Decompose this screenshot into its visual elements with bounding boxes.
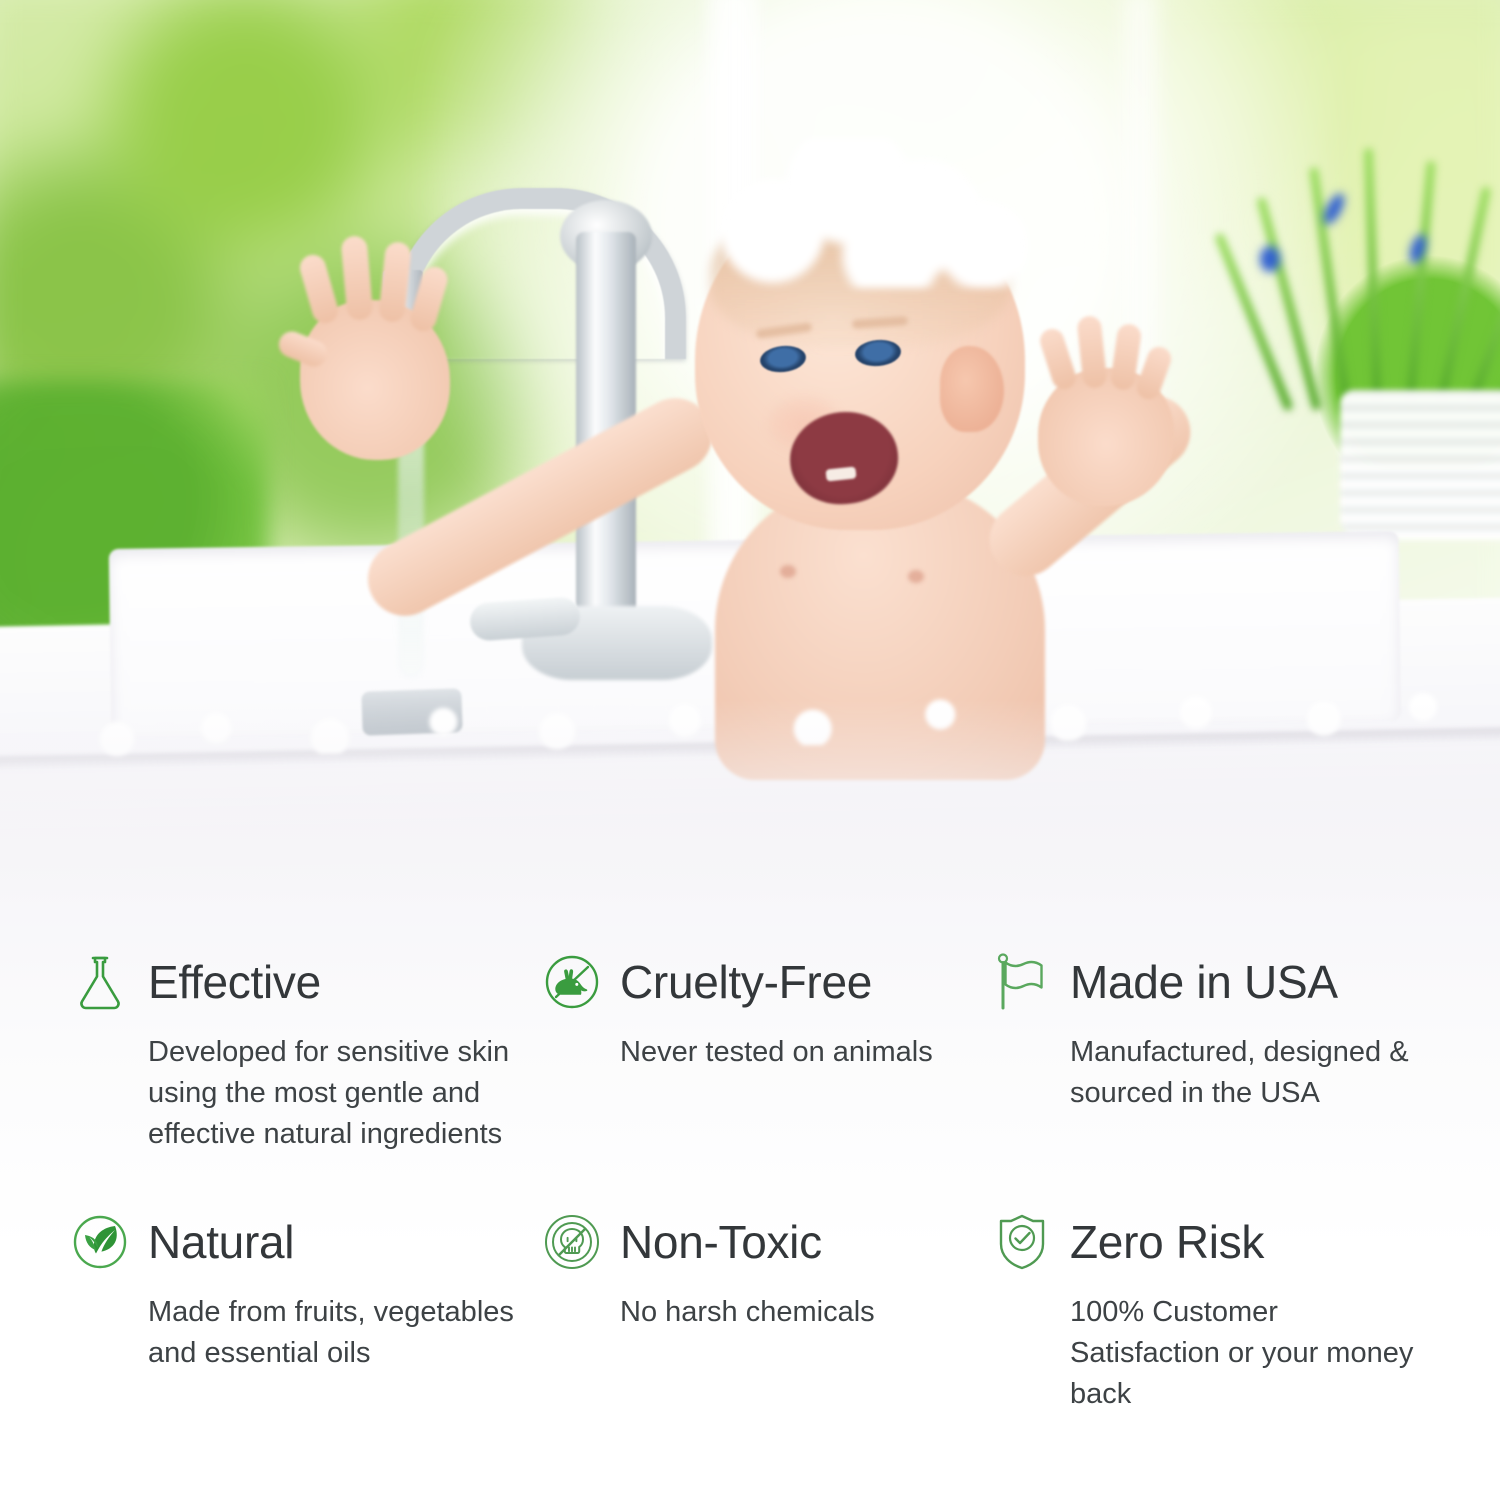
blue-flower-dot	[1320, 191, 1348, 228]
feature-item-made-in-usa: Made in USA Manufactured, designed & sou…	[992, 952, 1432, 1156]
faucet-handle	[469, 596, 581, 642]
feature-list: Effective Developed for sensitive skin u…	[0, 880, 1500, 1500]
feature-title: Natural	[148, 1219, 294, 1265]
feature-heading-row: Natural	[70, 1212, 542, 1272]
feature-heading-row: Cruelty-Free	[542, 952, 992, 1012]
no-skull-icon	[542, 1212, 602, 1272]
feature-item-effective: Effective Developed for sensitive skin u…	[70, 952, 542, 1156]
feature-title: Made in USA	[1070, 959, 1338, 1005]
blue-flower-dot	[1260, 246, 1280, 272]
flask-icon	[70, 952, 130, 1012]
feature-heading-row: Made in USA	[992, 952, 1432, 1012]
photo-bottom-fade	[0, 700, 1500, 880]
woven-plant-pot	[1340, 390, 1500, 540]
baby-right-hand	[1038, 368, 1174, 506]
leaf-circle-icon	[70, 1212, 130, 1272]
feature-heading-row: Effective	[70, 952, 542, 1012]
feature-description: Developed for sensitive skin using the m…	[70, 1032, 542, 1156]
feature-description: Never tested on animals	[542, 1032, 992, 1073]
product-feature-page: Effective Developed for sensitive skin u…	[0, 0, 1500, 1500]
feature-description: 100% Customer Satisfaction or your money…	[992, 1292, 1430, 1416]
feature-description: Manufactured, designed & sourced in the …	[992, 1032, 1430, 1114]
soap-foam-on-head	[700, 138, 1030, 288]
feature-title: Zero Risk	[1070, 1219, 1264, 1265]
feature-title: Cruelty-Free	[620, 959, 872, 1005]
feature-item-non-toxic: Non-Toxic No harsh chemicals	[542, 1212, 992, 1416]
no-rabbit-icon	[542, 952, 602, 1012]
feature-item-cruelty-free: Cruelty-Free Never tested on animals	[542, 952, 992, 1156]
baby-left-hand	[300, 300, 450, 460]
feature-description: No harsh chemicals	[542, 1292, 992, 1333]
feature-title: Non-Toxic	[620, 1219, 822, 1265]
shield-check-icon	[992, 1212, 1052, 1272]
feature-description: Made from fruits, vegetables and essenti…	[70, 1292, 542, 1374]
feature-item-natural: Natural Made from fruits, vegetables and…	[70, 1212, 542, 1416]
baby-in-sink	[640, 150, 1200, 750]
flag-icon	[992, 952, 1052, 1012]
feature-title: Effective	[148, 959, 321, 1005]
feature-grid: Effective Developed for sensitive skin u…	[70, 952, 1430, 1415]
feature-item-zero-risk: Zero Risk 100% Customer Satisfaction or …	[992, 1212, 1432, 1416]
hero-photo	[0, 0, 1500, 880]
feature-heading-row: Non-Toxic	[542, 1212, 992, 1272]
baby-ear	[940, 346, 1004, 432]
feature-heading-row: Zero Risk	[992, 1212, 1432, 1272]
